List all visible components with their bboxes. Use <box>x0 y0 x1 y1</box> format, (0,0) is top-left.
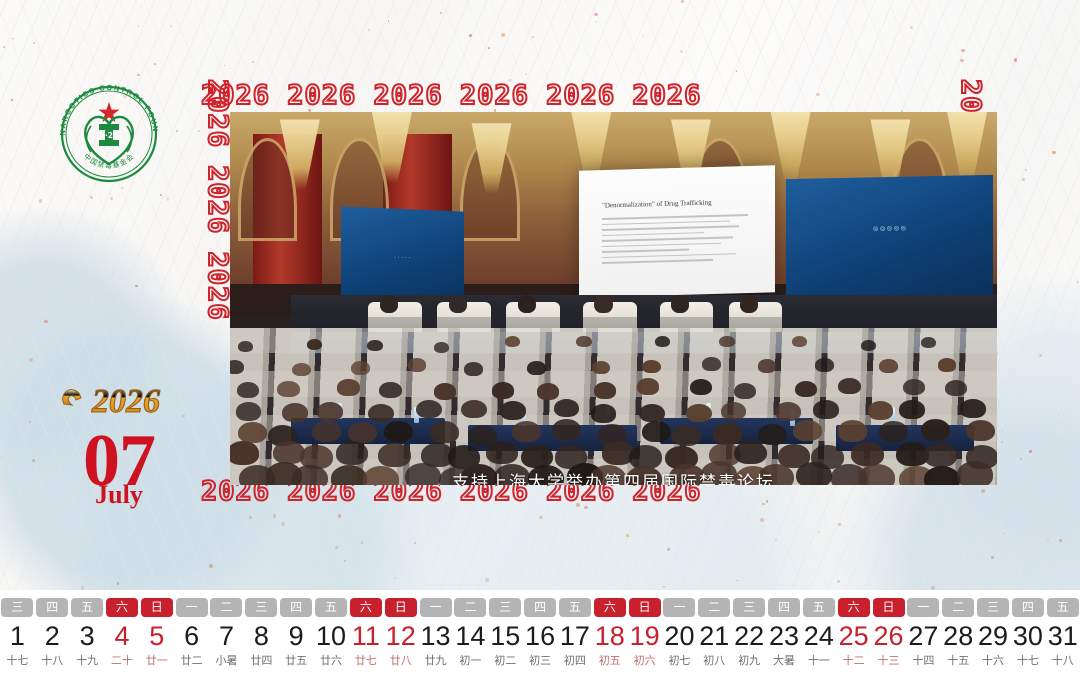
lunar-date: 小暑 <box>215 652 237 668</box>
weekday-pill: 日 <box>141 598 173 617</box>
audience-head <box>576 336 591 347</box>
day-number: 1 <box>10 621 25 651</box>
lunar-date: 初七 <box>668 652 690 668</box>
audience-head <box>734 383 756 399</box>
day-number: 13 <box>421 621 451 651</box>
slide-body-lines <box>602 214 748 268</box>
audience-head <box>686 404 712 423</box>
audience-head <box>775 402 801 421</box>
day-cell[interactable]: 一13廿九 <box>418 590 453 681</box>
day-cell[interactable]: 六25十二 <box>836 590 871 681</box>
audience-head <box>307 339 322 350</box>
lunar-date: 廿一 <box>146 652 168 668</box>
lunar-date: 初一 <box>459 652 481 668</box>
frame-band-left-text: 2026 2026 2026 <box>202 79 233 321</box>
day-cell[interactable]: 四30十七 <box>1010 590 1045 681</box>
audience-head <box>348 422 377 443</box>
audience-head <box>938 358 957 372</box>
frame-band-top-text: 2026 2026 2026 2026 2026 2026 <box>201 80 701 111</box>
side-screen-left-text: · · · · · <box>341 252 464 263</box>
day-number: 9 <box>289 621 304 651</box>
audience-head <box>639 404 665 423</box>
audience-head <box>637 378 659 394</box>
weekday-pill: 一 <box>907 598 939 617</box>
lunar-date: 廿七 <box>355 652 377 668</box>
weekday-pill: 四 <box>36 598 68 617</box>
audience-head <box>552 419 581 440</box>
event-photo: · · · · · "Denormalization" of Drug Traf… <box>230 112 997 485</box>
audience-head <box>690 379 712 395</box>
audience-head <box>430 421 459 442</box>
day-cell[interactable]: 三22初九 <box>732 590 767 681</box>
lunar-date: 廿二 <box>181 652 203 668</box>
audience-head <box>721 402 747 421</box>
day-number: 6 <box>184 621 199 651</box>
frame-band-top: 2026 2026 2026 2026 2026 2026 <box>201 79 986 111</box>
lunar-date: 大暑 <box>773 652 795 668</box>
day-number: 10 <box>316 621 346 651</box>
audience-head <box>408 358 427 372</box>
audience-head <box>368 404 394 423</box>
day-number: 18 <box>595 621 625 651</box>
weekday-pill: 日 <box>385 598 417 617</box>
emblem-date: 6·26 <box>100 131 119 140</box>
audience-head <box>591 404 617 423</box>
day-cell[interactable]: 三29十六 <box>976 590 1011 681</box>
audience-head <box>960 399 986 418</box>
photo-caption: 支持上海大学举办第四届国际禁毒论坛 <box>230 468 997 485</box>
weekday-pill: 四 <box>524 598 556 617</box>
day-cell[interactable]: 日5廿一 <box>139 590 174 681</box>
audience-head <box>793 420 822 441</box>
day-number: 16 <box>525 621 555 651</box>
audience-head <box>461 400 487 419</box>
lunar-date: 十二 <box>843 652 865 668</box>
day-number: 8 <box>254 621 269 651</box>
audience-head <box>921 337 936 348</box>
audience-head <box>594 382 616 398</box>
audience-head <box>838 420 867 441</box>
day-number: 31 <box>1048 621 1078 651</box>
panelist-5 <box>671 295 689 314</box>
lunar-date: 十七 <box>6 652 28 668</box>
day-number: 28 <box>943 621 973 651</box>
day-number: 4 <box>114 621 129 651</box>
audience-head <box>554 399 580 418</box>
day-number: 17 <box>560 621 590 651</box>
day-cell[interactable]: 五10廿六 <box>314 590 349 681</box>
weekday-pill: 三 <box>733 598 765 617</box>
day-cell[interactable]: 四9廿五 <box>279 590 314 681</box>
day-number: 26 <box>873 621 903 651</box>
lunar-date: 初三 <box>529 652 551 668</box>
organization-emblem: CHINA NARCOTICS CONTROL FOUNDATION 中国禁毒基… <box>55 80 163 188</box>
day-cell[interactable]: 二21初八 <box>697 590 732 681</box>
weekday-pill: 五 <box>315 598 347 617</box>
lunar-date: 初九 <box>738 652 760 668</box>
audience-head <box>719 336 734 347</box>
weekday-pill: 五 <box>559 598 591 617</box>
day-number: 20 <box>664 621 694 651</box>
weekday-pill: 五 <box>803 598 835 617</box>
day-number: 14 <box>455 621 485 651</box>
audience-head <box>486 441 519 465</box>
lunar-date: 十九 <box>76 652 98 668</box>
day-cell[interactable]: 日19初六 <box>627 590 662 681</box>
day-cell[interactable]: 一20初七 <box>662 590 697 681</box>
audience-head <box>282 403 308 422</box>
weekday-pill: 一 <box>420 598 452 617</box>
audience-head <box>378 443 411 467</box>
day-number: 5 <box>149 621 164 651</box>
panelist-6 <box>740 295 758 314</box>
audience-head <box>500 401 526 420</box>
weekday-pill: 四 <box>768 598 800 617</box>
lunar-date: 十八 <box>41 652 63 668</box>
audience-head <box>879 359 898 373</box>
audience-head <box>238 422 267 443</box>
weekday-pill: 三 <box>977 598 1009 617</box>
day-number: 29 <box>978 621 1008 651</box>
audience-head <box>702 357 721 371</box>
day-cell[interactable]: 日12廿八 <box>383 590 418 681</box>
photo-scene: · · · · · "Denormalization" of Drug Traf… <box>230 112 997 485</box>
weekday-pill: 六 <box>594 598 626 617</box>
weekday-pill: 六 <box>838 598 870 617</box>
lunar-date: 十一 <box>808 652 830 668</box>
audience-head <box>384 421 413 442</box>
lunar-date: 十四 <box>912 652 934 668</box>
day-cell[interactable]: 五24十一 <box>801 590 836 681</box>
audience-head <box>792 336 807 347</box>
day-cell[interactable]: 二14初一 <box>453 590 488 681</box>
audience-head <box>230 360 244 374</box>
month-day-strip: 三1十七四2十八五3十九六4二十日5廿一一6廿二二7小暑三8廿四四9廿五五10廿… <box>0 590 1080 681</box>
day-cell[interactable]: 五31十八 <box>1045 590 1080 681</box>
audience-head <box>642 421 671 442</box>
audience-head <box>337 379 359 395</box>
audience-head <box>758 359 777 373</box>
audience-head <box>312 421 341 442</box>
day-number: 12 <box>386 621 416 651</box>
audience-head <box>434 342 449 353</box>
day-number: 30 <box>1013 621 1043 651</box>
audience-head <box>277 381 299 397</box>
audience-head <box>642 360 661 374</box>
panelist-2 <box>449 295 467 314</box>
day-cell[interactable]: 六11廿七 <box>348 590 383 681</box>
day-cell[interactable]: 三15初二 <box>488 590 523 681</box>
lunar-date: 廿八 <box>390 652 412 668</box>
month-name: July <box>46 480 192 510</box>
day-number: 3 <box>80 621 95 651</box>
day-number: 27 <box>908 621 938 651</box>
panelist-3 <box>518 295 536 314</box>
day-cell[interactable]: 四16初三 <box>523 590 558 681</box>
year-label: 2026 <box>91 383 160 420</box>
weekday-pill: 六 <box>106 598 138 617</box>
year-wordmark: 2026 <box>48 378 188 426</box>
audience-head <box>795 381 817 397</box>
audience-head <box>655 336 670 347</box>
lunar-date: 廿九 <box>425 652 447 668</box>
audience-head <box>317 402 343 421</box>
frame-band-left: 2026 2026 2026 <box>201 79 233 507</box>
audience-head <box>367 340 382 351</box>
svg-text:中国禁毒基金会: 中国禁毒基金会 <box>82 151 136 170</box>
day-cell[interactable]: 六18初五 <box>592 590 627 681</box>
side-screen-right-text: ◎ ◎ ◎ ◎ ◎ <box>786 223 993 234</box>
audience-head <box>899 400 925 419</box>
panelist-4 <box>594 295 612 314</box>
audience-head <box>592 361 611 375</box>
weekday-pill: 一 <box>663 598 695 617</box>
weekday-pill: 二 <box>454 598 486 617</box>
weekday-pill: 二 <box>698 598 730 617</box>
day-cell[interactable]: 三1十七 <box>0 590 35 681</box>
day-cell[interactable]: 六4二十 <box>105 590 140 681</box>
lunar-date: 二十 <box>111 652 133 668</box>
weekday-pill: 四 <box>280 598 312 617</box>
weekday-pill: 三 <box>245 598 277 617</box>
lunar-date: 廿四 <box>250 652 272 668</box>
audience-head <box>237 382 259 398</box>
panelist-1 <box>380 295 398 314</box>
weekday-pill: 一 <box>176 598 208 617</box>
day-cell[interactable]: 四23大暑 <box>767 590 802 681</box>
audience-head <box>505 336 520 347</box>
audience-head <box>815 358 834 372</box>
audience-head <box>416 400 442 419</box>
weekday-pill: 三 <box>1 598 33 617</box>
audience-head <box>861 340 876 351</box>
lunar-date: 十三 <box>878 652 900 668</box>
weekday-pill: 六 <box>350 598 382 617</box>
audience-head <box>813 400 839 419</box>
horse-icon <box>63 390 81 405</box>
day-cell[interactable]: 五3十九 <box>70 590 105 681</box>
day-number: 11 <box>352 621 380 651</box>
day-number: 15 <box>490 621 520 651</box>
lunar-date: 初八 <box>703 652 725 668</box>
lunar-date: 初六 <box>634 652 656 668</box>
audience-head <box>527 361 546 375</box>
day-cell[interactable]: 一27十四 <box>906 590 941 681</box>
audience-head <box>238 341 253 352</box>
emblem-text-zh: 中国禁毒基金会 <box>82 151 136 170</box>
audience-head <box>434 383 456 399</box>
weekday-pill: 三 <box>489 598 521 617</box>
audience-head <box>236 402 262 421</box>
audience-head <box>537 383 559 399</box>
lunar-date: 初二 <box>494 652 516 668</box>
audience-head <box>921 419 950 440</box>
audience-head <box>758 424 787 445</box>
audience-head <box>966 420 995 441</box>
side-screen-right: ◎ ◎ ◎ ◎ ◎ <box>786 175 993 306</box>
weekday-pill: 五 <box>71 598 103 617</box>
weekday-pill: 日 <box>629 598 661 617</box>
audience-head <box>945 380 967 396</box>
weekday-pill: 二 <box>210 598 242 617</box>
day-cell[interactable]: 三8廿四 <box>244 590 279 681</box>
lunar-date: 廿五 <box>285 652 307 668</box>
lunar-date: 十六 <box>982 652 1004 668</box>
audience-head <box>336 441 369 465</box>
audience-head <box>672 425 701 446</box>
weekday-pill: 五 <box>1047 598 1079 617</box>
lunar-date: 十八 <box>1052 652 1074 668</box>
day-number: 2 <box>45 621 60 651</box>
day-number: 25 <box>839 621 869 651</box>
audience-head <box>879 421 908 442</box>
day-number: 19 <box>630 621 660 651</box>
lunar-date: 初五 <box>599 652 621 668</box>
audience-head <box>351 361 370 375</box>
audience-head <box>464 362 483 376</box>
audience-head <box>924 443 957 467</box>
lunar-date: 初四 <box>564 652 586 668</box>
day-cell[interactable]: 五17初四 <box>558 590 593 681</box>
lunar-date: 廿六 <box>320 652 342 668</box>
weekday-pill: 四 <box>1012 598 1044 617</box>
audience-head <box>903 379 925 395</box>
day-cell[interactable]: 日26十三 <box>871 590 906 681</box>
photo-frame: 2026 2026 2026 2026 2026 2026 2026 2026 … <box>201 79 986 507</box>
weekday-pill: 二 <box>942 598 974 617</box>
audience-head <box>512 421 541 442</box>
audience-head <box>851 442 884 466</box>
audience-head <box>230 441 259 465</box>
lunar-date: 十七 <box>1017 652 1039 668</box>
audience-head <box>292 363 311 377</box>
audience-head <box>838 378 860 394</box>
audience-head <box>713 423 742 444</box>
audience-head <box>868 401 894 420</box>
audience-head <box>734 441 767 465</box>
day-number: 21 <box>699 621 729 651</box>
day-number: 23 <box>769 621 799 651</box>
weekday-pill: 日 <box>873 598 905 617</box>
lunar-date: 十五 <box>947 652 969 668</box>
audience-head <box>492 382 514 398</box>
day-cell[interactable]: 一6廿二 <box>174 590 209 681</box>
day-cell[interactable]: 二28十五 <box>941 590 976 681</box>
day-cell[interactable]: 四2十八 <box>35 590 70 681</box>
audience-head <box>379 382 401 398</box>
calendar-page: CHINA NARCOTICS CONTROL FOUNDATION 中国禁毒基… <box>0 0 1080 681</box>
emblem-star-icon <box>98 102 119 122</box>
day-number: 22 <box>734 621 764 651</box>
day-number: 7 <box>219 621 234 651</box>
day-number: 24 <box>804 621 834 651</box>
day-cell[interactable]: 二7小暑 <box>209 590 244 681</box>
